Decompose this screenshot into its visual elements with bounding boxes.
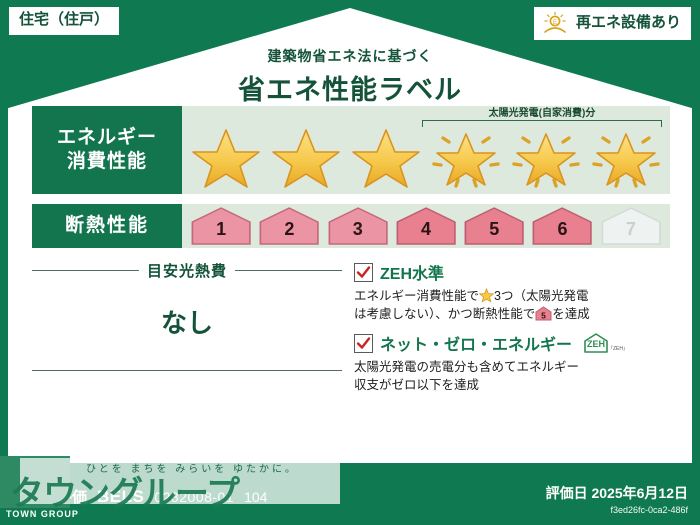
divider-right <box>235 270 342 271</box>
zeh-desc-part-b: 3つ（太陽光発電 <box>494 289 588 303</box>
third-party-eval-label: 第三者評価 <box>12 486 87 507</box>
divider-left <box>32 270 139 271</box>
zeh-house-logo-icon: ZEH 『ZEH』 <box>582 332 626 354</box>
zeh-standard-head: ZEH水準 <box>354 260 670 284</box>
insulation-badges: 1 2 3 <box>182 206 670 246</box>
check-icon <box>356 265 371 280</box>
insulation-badge-4: 4 <box>395 206 457 246</box>
insulation-badge-2: 2 <box>258 206 320 246</box>
net-zero-head: ネット・ゼロ・エネルギー ZEH 『ZEH』 <box>354 331 670 355</box>
insulation-level-number: 4 <box>421 219 431 246</box>
bels-number-secondary: 104 <box>244 489 267 505</box>
page-title: 省エネ性能ラベル <box>0 68 700 107</box>
star-filled <box>190 124 262 190</box>
star-rating <box>190 124 662 190</box>
insulation-performance-label: 断熱性能 <box>32 204 182 248</box>
net-zero-desc-b: 収支がゼロ以下を達成 <box>354 378 479 392</box>
net-zero-energy-item: ネット・ゼロ・エネルギー ZEH 『ZEH』 太陽光発電の売電分も含めてエネルギ… <box>354 331 670 394</box>
insulation-badge-6: 6 <box>531 206 593 246</box>
check-icon <box>356 336 371 351</box>
insulation-level-number: 6 <box>558 219 568 246</box>
net-zero-title: ネット・ゼロ・エネルギー <box>380 331 572 355</box>
insulation-performance-row: 断熱性能 1 2 <box>32 204 670 248</box>
sun-icon: E <box>540 11 570 35</box>
svg-text:ZEH: ZEH <box>587 339 605 349</box>
insulation-level-inline-badge: 5 <box>535 306 552 321</box>
insulation-badge-5: 5 <box>463 206 525 246</box>
zeh-section: ZEH水準 エネルギー消費性能で3つ（太陽光発電は考慮しない）、かつ断熱性能で5… <box>354 260 670 403</box>
zeh-standard-title: ZEH水準 <box>380 260 444 284</box>
zeh-standard-description: エネルギー消費性能で3つ（太陽光発電は考慮しない）、かつ断熱性能で5を達成 <box>354 287 670 323</box>
renewable-label: 再エネ設備あり <box>576 15 681 32</box>
bels-number: 0282008-01 <box>154 489 234 505</box>
utility-cost-heading: 目安光熱費 <box>32 260 342 281</box>
zeh-standard-checkbox[interactable] <box>354 263 373 282</box>
insulation-level-number: 7 <box>626 219 636 246</box>
energy-label-root: 住宅（住戸） E 再エネ設備あり 建築物省エネ法に基づく 省エネ性能ラベル <box>0 0 700 525</box>
star-filled <box>350 124 422 190</box>
insulation-level-number: 5 <box>489 219 499 246</box>
insulation-badge-7: 7 <box>600 206 662 246</box>
energy-label-line1: エネルギー <box>57 126 157 150</box>
utility-cost-value: なし <box>32 303 342 340</box>
insulation-level-number: 1 <box>216 219 226 246</box>
label-content: エネルギー 消費性能 太陽光発電(自家消費)分 <box>32 106 670 403</box>
housing-type-label: 住宅（住戸） <box>19 11 109 28</box>
zeh-desc-part-a: エネルギー消費性能で <box>354 289 479 303</box>
housing-type-tag: 住宅（住戸） <box>8 6 120 36</box>
svg-text:5: 5 <box>541 311 546 321</box>
energy-stars-panel: 太陽光発電(自家消費)分 <box>182 106 670 194</box>
insulation-label-text: 断熱性能 <box>65 214 149 238</box>
footer-bar: 第三者評価 BELS 0282008-01 104 評価日 2025年6月12日… <box>0 463 700 525</box>
insulation-level-number: 2 <box>284 219 294 246</box>
insulation-badge-3: 3 <box>327 206 389 246</box>
renewable-equipment-badge: E 再エネ設備あり <box>533 6 692 41</box>
net-zero-description: 太陽光発電の売電分も含めてエネルギー収支がゼロ以下を達成 <box>354 358 670 394</box>
title-subtitle: 建築物省エネ法に基づく <box>0 46 700 66</box>
bels-label: BELS <box>97 487 144 507</box>
star-filled-solar <box>590 124 662 190</box>
star-filled <box>270 124 342 190</box>
net-zero-checkbox[interactable] <box>354 334 373 353</box>
svg-text:E: E <box>553 20 557 26</box>
star-filled-solar <box>430 124 502 190</box>
star-filled-solar <box>510 124 582 190</box>
insulation-levels-panel: 1 2 3 <box>182 204 670 248</box>
evaluation-date: 評価日 2025年6月12日 <box>546 483 688 503</box>
evaluation-hash: f3ed26fc-0ca2-486f <box>546 505 688 515</box>
energy-performance-label: エネルギー 消費性能 <box>32 106 182 194</box>
utility-cost-section: 目安光熱費 なし <box>32 260 354 403</box>
solar-annotation-text: 太陽光発電(自家消費)分 <box>422 108 662 119</box>
energy-label-line2: 消費性能 <box>67 150 147 174</box>
zeh-standard-item: ZEH水準 エネルギー消費性能で3つ（太陽光発電は考慮しない）、かつ断熱性能で5… <box>354 260 670 323</box>
footer-right-group: 評価日 2025年6月12日 f3ed26fc-0ca2-486f <box>546 483 688 515</box>
footer-left-group: 第三者評価 BELS 0282008-01 104 <box>12 486 267 507</box>
insulation-badge-1: 1 <box>190 206 252 246</box>
star-icon <box>479 288 494 303</box>
energy-performance-row: エネルギー 消費性能 太陽光発電(自家消費)分 <box>32 106 670 194</box>
utility-cost-rule <box>32 370 342 371</box>
utility-cost-title: 目安光熱費 <box>147 260 227 281</box>
net-zero-desc-a: 太陽光発電の売電分も含めてエネルギー <box>354 360 579 374</box>
lower-section: 目安光熱費 なし ZEH水準 <box>32 260 670 403</box>
zeh-desc-part-c: は考慮しない）、かつ断熱性能で <box>354 307 535 321</box>
title-block: 建築物省エネ法に基づく 省エネ性能ラベル <box>0 46 700 107</box>
svg-text:『ZEH』: 『ZEH』 <box>608 345 626 352</box>
insulation-level-number: 3 <box>353 219 363 246</box>
zeh-desc-part-d: を達成 <box>552 307 590 321</box>
